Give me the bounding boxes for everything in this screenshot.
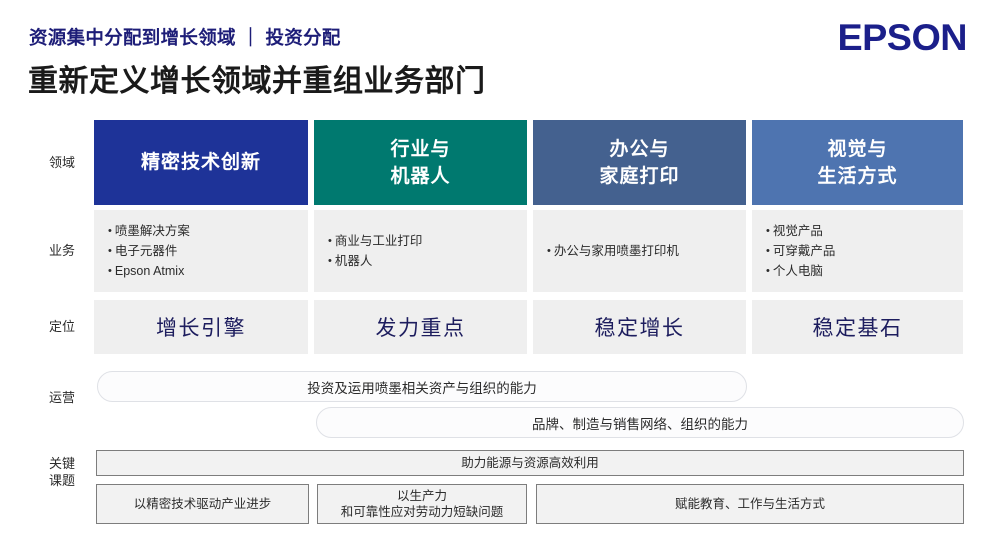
- positioning-label: 稳定基石: [813, 312, 903, 342]
- operations-pill-inkjet-assets: 投资及运用喷墨相关资产与组织的能力: [97, 371, 747, 402]
- domain-card-precision-label: 精密技术创新: [141, 149, 261, 176]
- domain-line-2: 机器人: [390, 163, 450, 190]
- business-item: Epson Atmix: [108, 261, 308, 281]
- positioning-label: 稳定增长: [595, 312, 685, 342]
- domain-line-2: 生活方式: [817, 163, 897, 190]
- domain-card-visual-lifestyle-label: 视觉与 生活方式: [817, 136, 897, 190]
- operations-pill-label: 品牌、制造与销售网络、组织的能力: [532, 413, 748, 433]
- key-issue-label-block: 以生产力 和可靠性应对劳动力短缺问题: [341, 488, 504, 520]
- operations-pill-brand-manufacturing: 品牌、制造与销售网络、组织的能力: [316, 407, 964, 438]
- slide-header: 资源集中分配到增长领域 ｜ 投资分配 重新定义增长领域并重组业务部门 EPSON: [0, 0, 1000, 108]
- positioning-label: 增长引擎: [156, 312, 246, 342]
- key-issue-productivity-labor: 以生产力 和可靠性应对劳动力短缺问题: [317, 484, 527, 524]
- positioning-cell-visual-lifestyle: 稳定基石: [752, 300, 963, 354]
- business-item: 视觉产品: [766, 221, 963, 241]
- domain-card-industry-robots[interactable]: 行业与 机器人: [314, 120, 527, 205]
- key-issue-energy-resources: 助力能源与资源高效利用: [96, 450, 964, 476]
- business-item: 机器人: [328, 251, 527, 271]
- business-item: 喷墨解决方案: [108, 221, 308, 241]
- business-item: 个人电脑: [766, 261, 963, 281]
- row-label-key-issues-line2: 课题: [32, 472, 92, 489]
- operations-pill-label: 投资及运用喷墨相关资产与组织的能力: [307, 377, 537, 397]
- positioning-cell-office-home-printing: 稳定增长: [533, 300, 746, 354]
- business-cell-visual-lifestyle: 视觉产品 可穿戴产品 个人电脑: [752, 210, 963, 292]
- business-cell-precision: 喷墨解决方案 电子元器件 Epson Atmix: [94, 210, 308, 292]
- row-label-domain: 领域: [32, 154, 92, 171]
- business-item: 电子元器件: [108, 241, 308, 261]
- key-issue-line-1: 赋能教育、工作与生活方式: [675, 496, 825, 512]
- key-issue-label-block: 以精密技术驱动产业进步: [134, 496, 272, 512]
- domain-card-office-home-printing[interactable]: 办公与 家庭打印: [533, 120, 746, 205]
- business-cell-industry-robots: 商业与工业打印 机器人: [314, 210, 527, 292]
- business-item: 商业与工业打印: [328, 231, 527, 251]
- key-issue-precision-industry: 以精密技术驱动产业进步: [96, 484, 309, 524]
- key-issue-line-2: 和可靠性应对劳动力短缺问题: [341, 504, 504, 520]
- business-cell-office-home-printing: 办公与家用喷墨打印机: [533, 210, 746, 292]
- row-label-positioning: 定位: [32, 318, 92, 335]
- domain-card-office-home-printing-label: 办公与 家庭打印: [599, 136, 679, 190]
- key-issue-line-1: 以精密技术驱动产业进步: [134, 496, 272, 512]
- domain-line-1: 行业与: [390, 136, 450, 163]
- domain-card-industry-robots-label: 行业与 机器人: [390, 136, 450, 190]
- positioning-cell-industry-robots: 发力重点: [314, 300, 527, 354]
- domain-line-1: 办公与: [599, 136, 679, 163]
- row-label-key-issues: 关键 课题: [32, 455, 92, 489]
- eyebrow-subtitle: 资源集中分配到增长领域 ｜ 投资分配: [29, 24, 341, 50]
- positioning-label: 发力重点: [376, 312, 466, 342]
- page-title: 重新定义增长领域并重组业务部门: [28, 56, 486, 100]
- positioning-cell-precision: 增长引擎: [94, 300, 308, 354]
- domain-line-1: 视觉与: [817, 136, 897, 163]
- row-label-key-issues-line1: 关键: [32, 455, 92, 472]
- row-label-business: 业务: [32, 242, 92, 259]
- business-item: 可穿戴产品: [766, 241, 963, 261]
- key-issue-label-block: 赋能教育、工作与生活方式: [675, 496, 825, 512]
- business-item: 办公与家用喷墨打印机: [547, 241, 746, 261]
- key-issue-education-work-lifestyle: 赋能教育、工作与生活方式: [536, 484, 964, 524]
- domain-card-visual-lifestyle[interactable]: 视觉与 生活方式: [752, 120, 963, 205]
- epson-logo: EPSON: [837, 17, 967, 59]
- domain-card-precision[interactable]: 精密技术创新: [94, 120, 308, 205]
- key-issue-label: 助力能源与资源高效利用: [461, 455, 599, 471]
- key-issue-line-1: 以生产力: [341, 488, 504, 504]
- row-label-operations: 运营: [32, 389, 92, 406]
- domain-line-2: 家庭打印: [599, 163, 679, 190]
